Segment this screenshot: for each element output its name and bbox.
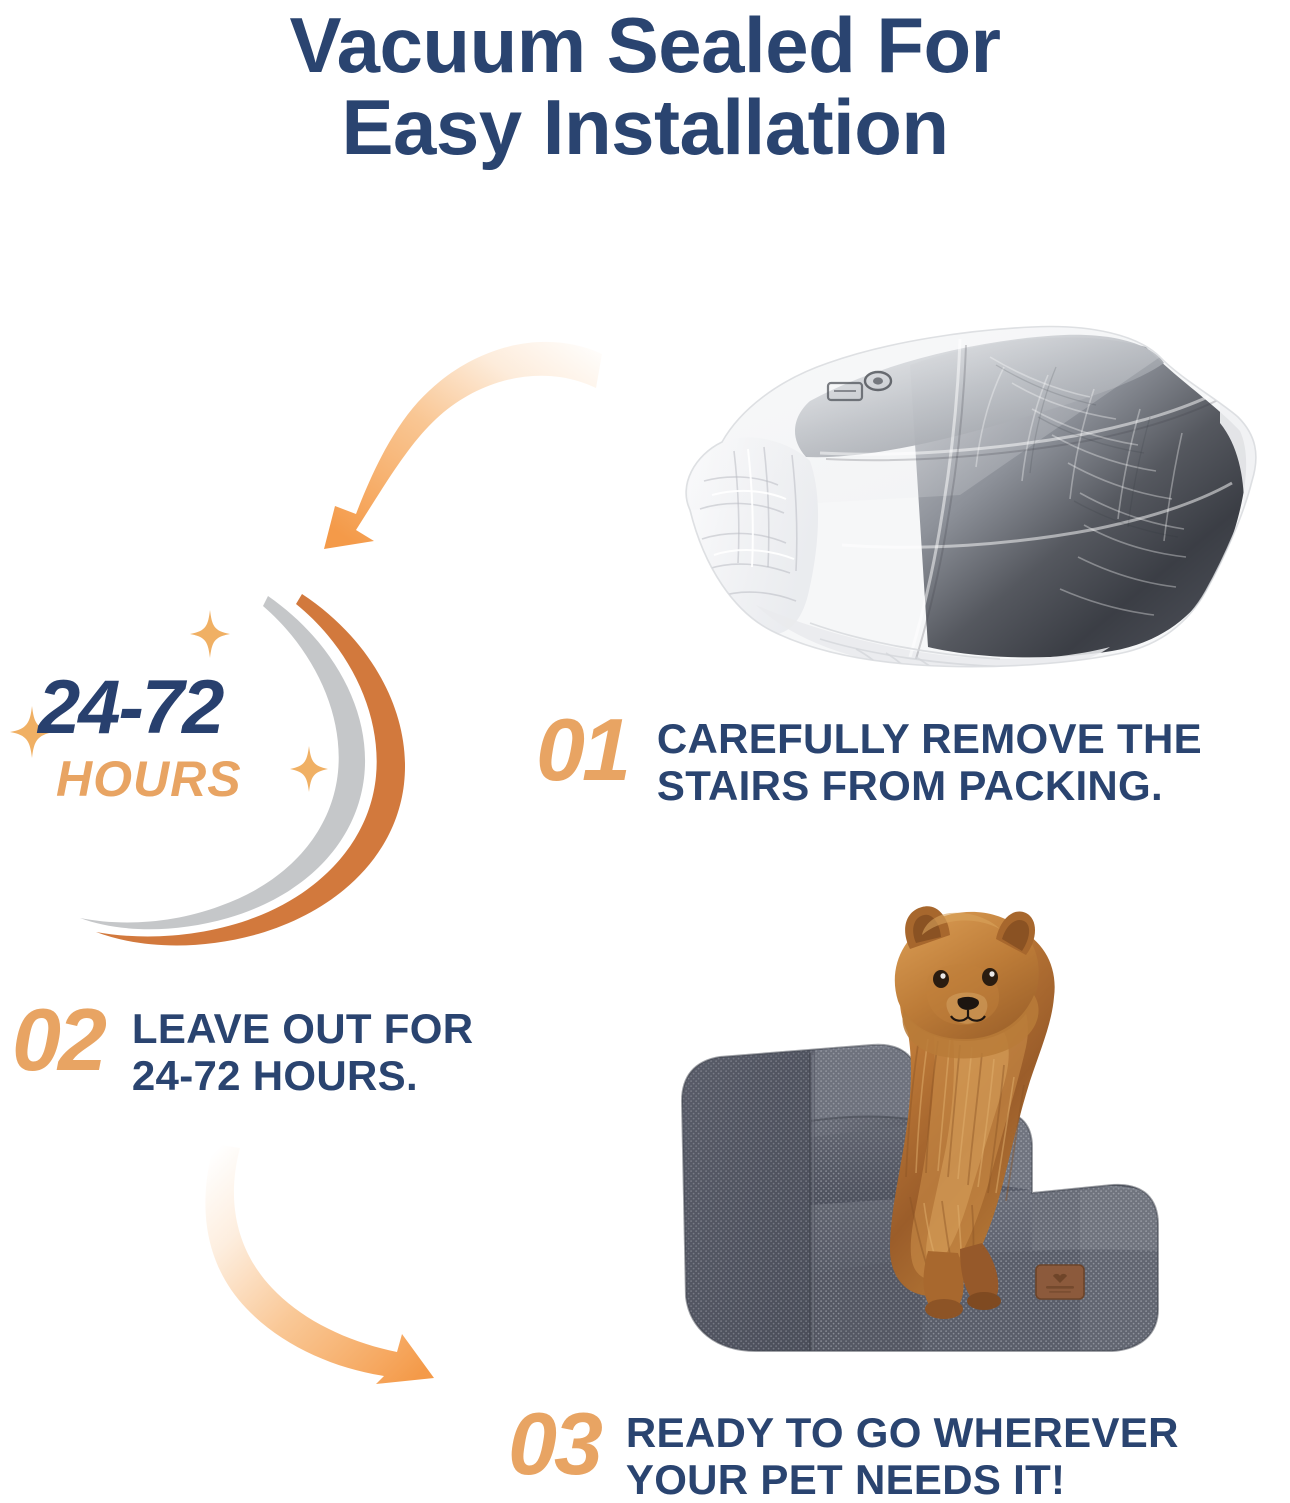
- brand-logo-patch: [1036, 1265, 1084, 1299]
- duration-badge: 24-72 HOURS: [0, 588, 440, 953]
- step-number-02: 02: [12, 996, 104, 1084]
- step-number-01: 01: [536, 706, 628, 794]
- step-text-02: LEAVE OUT FOR 24-72 HOURS.: [132, 1005, 473, 1099]
- curved-arrow-step-2-icon: [188, 1138, 528, 1388]
- pet-stairs-with-dog-photo: [660, 905, 1280, 1380]
- vacuum-sealed-package-photo: [660, 305, 1280, 685]
- step-text-01: CAREFULLY REMOVE THE STAIRS FROM PACKING…: [657, 715, 1202, 809]
- curved-arrow-step-1-icon: [296, 318, 606, 568]
- step-item-02: 02 LEAVE OUT FOR 24-72 HOURS.: [12, 996, 473, 1099]
- page-title-line-2: Easy Installation: [0, 86, 1290, 168]
- page-title-line-1: Vacuum Sealed For: [0, 4, 1290, 86]
- step-number-03: 03: [508, 1400, 600, 1488]
- step-item-03: 03 READY TO GO WHEREVER YOUR PET NEEDS I…: [508, 1400, 1179, 1503]
- step-text-03: READY TO GO WHEREVER YOUR PET NEEDS IT!: [626, 1409, 1179, 1503]
- page-title: Vacuum Sealed For Easy Installation: [0, 4, 1290, 168]
- badge-swoosh-arcs-icon: [0, 588, 440, 953]
- step-item-01: 01 CAREFULLY REMOVE THE STAIRS FROM PACK…: [536, 706, 1202, 809]
